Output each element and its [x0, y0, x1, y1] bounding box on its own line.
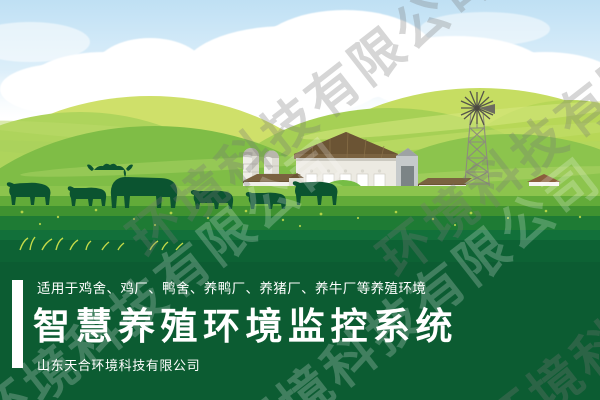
company-name: 山东天合环境科技有限公司 — [37, 358, 200, 376]
poster-root: 适用于鸡舍、鸡厂、鸭舍、养鸭厂、养猪厂、养牛厂等养殖环境 智慧养殖环境监控系统 … — [0, 0, 600, 400]
banner: 适用于鸡舍、鸡厂、鸭舍、养鸭厂、养猪厂、养牛厂等养殖环境 智慧养殖环境监控系统 … — [0, 262, 600, 400]
banner-subtitle: 适用于鸡舍、鸡厂、鸭舍、养鸭厂、养猪厂、养牛厂等养殖环境 — [37, 280, 426, 298]
page-title: 智慧养殖环境监控系统 — [33, 303, 458, 351]
farm-landscape-illustration — [0, 0, 600, 262]
cattle-herd — [0, 158, 600, 214]
white-accent-bar — [12, 280, 23, 368]
